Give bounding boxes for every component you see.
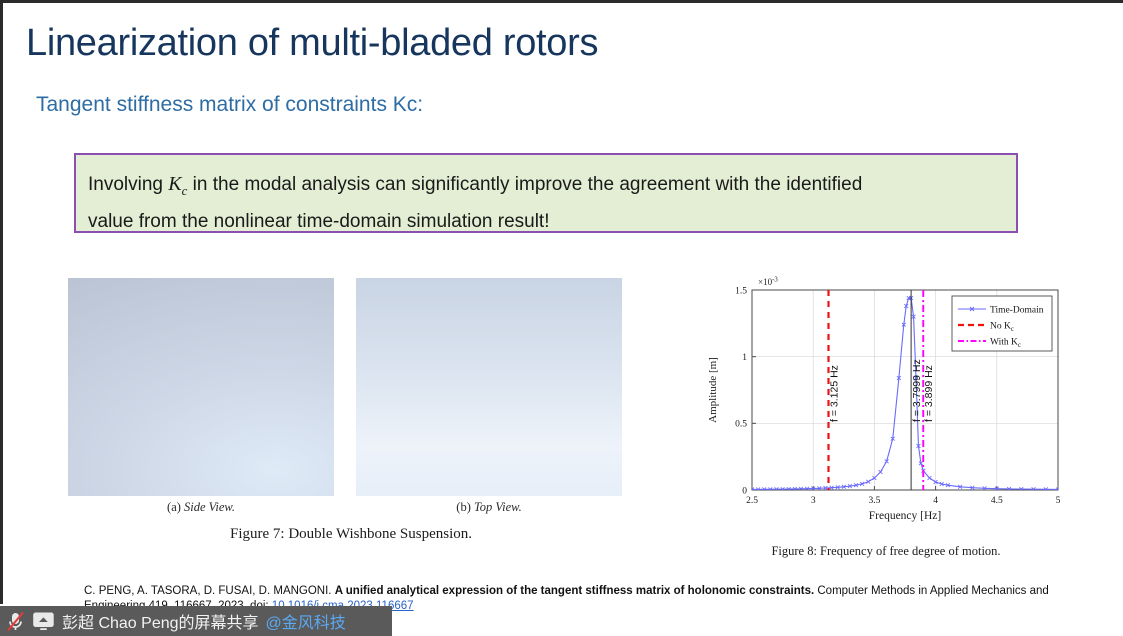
svg-text:2.5: 2.5 — [746, 496, 758, 506]
svg-text:×10-3: ×10-3 — [758, 277, 778, 287]
figure-7-caption: Figure 7: Double Wishbone Suspension. — [62, 526, 640, 543]
svg-text:3.5: 3.5 — [868, 496, 880, 506]
svg-text:1.5: 1.5 — [735, 286, 747, 296]
presentation-slide: Linearization of multi-bladed rotors Tan… — [0, 0, 1123, 636]
figure-8-caption: Figure 8: Frequency of free degree of mo… — [700, 544, 1072, 559]
svg-text:f = 3.899 Hz: f = 3.899 Hz — [923, 365, 935, 422]
figure-8: 2.533.544.5500.511.5Frequency [Hz]Amplit… — [700, 272, 1072, 562]
svg-text:0.5: 0.5 — [735, 420, 747, 430]
figure-7: (a) Side View. (b) Top View. Figure 7: D… — [62, 278, 640, 543]
figure-7-panel-a-caption: (a) Side View. — [68, 500, 334, 515]
svg-text:1: 1 — [742, 353, 747, 363]
panel-b-name: Top View. — [474, 500, 522, 514]
render-top-view-background — [356, 278, 622, 496]
render-side-view — [68, 278, 334, 496]
svg-text:0: 0 — [742, 486, 747, 496]
slide-top-border — [0, 0, 1123, 3]
panel-a-label: (a) — [167, 500, 181, 514]
render-side-view-background — [68, 278, 334, 496]
svg-text:Amplitude [m]: Amplitude [m] — [707, 357, 719, 423]
callout-line1-after: in the modal analysis can significantly … — [187, 174, 862, 195]
svg-text:4.5: 4.5 — [991, 496, 1003, 506]
screen-share-owner-label: 彭超 Chao Peng的屏幕共享 — [62, 609, 259, 633]
microphone-muted-icon[interactable] — [6, 611, 25, 632]
svg-text:f = 3.7999 Hz: f = 3.7999 Hz — [911, 359, 923, 422]
kc-symbol: Kc — [168, 173, 187, 195]
screen-share-statusbar: 彭超 Chao Peng的屏幕共享 @金风科技 — [0, 606, 392, 636]
screen-share-icon[interactable] — [32, 611, 55, 631]
svg-text:Time-Domain: Time-Domain — [990, 305, 1044, 315]
render-top-view — [356, 278, 622, 496]
svg-text:With Kc: With Kc — [990, 337, 1021, 349]
page-subtitle: Tangent stiffness matrix of constraints … — [36, 93, 423, 117]
screen-share-org-label: @金风科技 — [266, 609, 346, 633]
slide-left-border — [0, 0, 3, 604]
svg-text:Frequency [Hz]: Frequency [Hz] — [869, 510, 941, 522]
svg-text:f = 3.125 Hz: f = 3.125 Hz — [829, 365, 841, 422]
svg-text:4: 4 — [933, 496, 938, 506]
svg-text:5: 5 — [1056, 496, 1061, 506]
callout-line-2: value from the nonlinear time-domain sim… — [88, 199, 550, 245]
svg-text:3: 3 — [811, 496, 816, 506]
panel-a-name: Side View. — [184, 500, 235, 514]
page-title: Linearization of multi-bladed rotors — [26, 22, 598, 65]
citation-authors: C. PENG, A. TASORA, D. FUSAI, D. MANGONI… — [84, 585, 335, 597]
figure-7-panel-b-caption: (b) Top View. — [356, 500, 622, 515]
panel-b-label: (b) — [456, 500, 471, 514]
citation-paper-title: A unified analytical expression of the t… — [335, 585, 814, 597]
frequency-response-chart: 2.533.544.5500.511.5Frequency [Hz]Amplit… — [700, 272, 1072, 534]
callout-line1-before: Involving — [88, 174, 168, 195]
highlight-callout-box: Involving Kc in the modal analysis can s… — [74, 153, 1018, 233]
svg-text:No Kc: No Kc — [990, 321, 1014, 333]
chart-svg: 2.533.544.5500.511.5Frequency [Hz]Amplit… — [700, 272, 1072, 534]
